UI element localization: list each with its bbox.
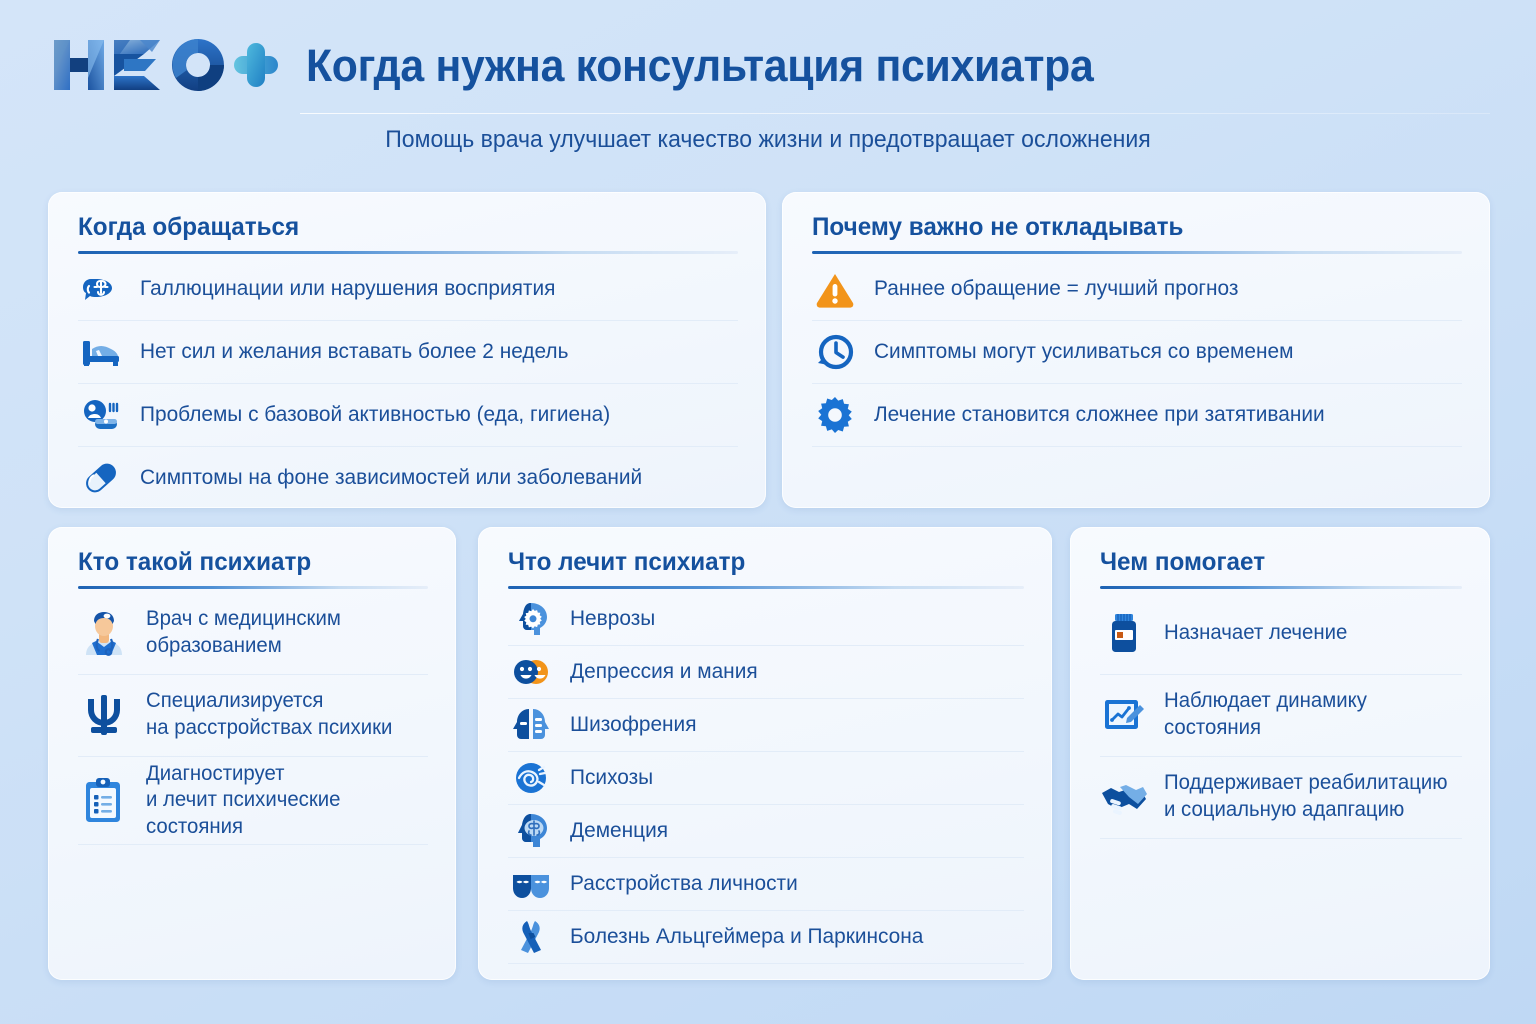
medicine-bottle-icon	[1100, 609, 1148, 657]
theater-masks-icon	[508, 861, 554, 907]
list-item[interactable]: Болезнь Альцгеймера и Паркинсона	[508, 911, 1024, 964]
list-item[interactable]: Проблемы с базовой активностью (еда, гиг…	[78, 384, 738, 447]
list-item[interactable]: Лечение становится сложнее при затятиван…	[812, 384, 1462, 447]
list-item-label: Специализируется на расстройствах психик…	[146, 688, 392, 741]
card-title: Почему важно не откладывать	[812, 214, 1443, 242]
item-list: Врач с медицинским образованием Специали…	[78, 593, 428, 846]
card-title: Кто такой психиатр	[78, 549, 418, 577]
page-subtitle: Помощь врача улучшает качество жизни и п…	[31, 126, 1506, 154]
list-item[interactable]: Шизофрения	[508, 699, 1024, 752]
page-header: Когда нужна консультация психиатра Помощ…	[0, 0, 1536, 170]
card-title: Когда обращаться	[78, 214, 718, 242]
list-item[interactable]: Депрессия и мания	[508, 646, 1024, 699]
list-item-label: Наблюдает динамику состояния	[1164, 688, 1453, 741]
warning-triangle-icon	[812, 266, 858, 312]
list-item-label: Лечение становится сложнее при затятиван…	[874, 401, 1325, 427]
list-item[interactable]: Поддерживает реабилитацию и социальную а…	[1100, 757, 1462, 839]
clock-icon	[812, 329, 858, 375]
split-head-icon	[508, 702, 554, 748]
meal-icon	[78, 392, 124, 438]
list-item-label: Раннее обращение = лучший прогноз	[874, 275, 1238, 301]
two-faces-icon	[508, 649, 554, 695]
item-list: Назначает лечение Наблюдает динамику сос…	[1100, 593, 1462, 839]
list-item-label: Галлюцинации или нарушения восприятия	[140, 275, 555, 301]
list-item-label: Психозы	[570, 764, 653, 790]
list-item-label: Шизофрения	[570, 711, 697, 737]
brand-row: Когда нужна консультация психиатра	[48, 32, 1135, 98]
neo-plus-logo-icon	[48, 32, 280, 98]
card-title-underline	[1100, 586, 1462, 589]
card-how-helps: Чем помогает Назначает лечение	[1070, 527, 1490, 980]
psi-icon	[78, 689, 130, 741]
card-what-psychiatrist-treats: Что лечит психиатр Неврозы	[478, 527, 1052, 980]
bed-icon	[78, 329, 124, 375]
card-when-to-seek-help: Когда обращаться	[48, 192, 766, 508]
head-gear-icon	[508, 596, 554, 642]
list-item-label: Симптомы на фоне зависимостей или заболе…	[140, 464, 642, 490]
card-title-underline	[508, 586, 1024, 589]
list-item[interactable]: Диагностирует и лечит психические состоя…	[78, 757, 428, 846]
list-item-label: Депрессия и мания	[570, 658, 758, 684]
tangled-head-icon	[508, 755, 554, 801]
list-item[interactable]: Специализируется на расстройствах психик…	[78, 675, 428, 757]
clipboard-icon	[78, 774, 130, 826]
list-item[interactable]: Симптомы могут усиливаться со временем	[812, 321, 1462, 384]
card-title: Чем помогает	[1100, 549, 1451, 577]
handshake-icon	[1100, 773, 1148, 821]
card-title: Что лечит психиатр	[508, 549, 1009, 577]
list-item-label: Расстройства личности	[570, 870, 798, 896]
awareness-ribbon-icon	[508, 914, 554, 960]
list-item-label: Симптомы могут усиливаться со временем	[874, 338, 1293, 364]
list-item[interactable]: Деменция	[508, 805, 1024, 858]
card-title-underline	[78, 586, 428, 589]
list-item[interactable]: Раннее обращение = лучший прогноз	[812, 258, 1462, 321]
list-item[interactable]: Назначает лечение	[1100, 593, 1462, 675]
list-item-label: Врач с медицинским образованием	[146, 606, 341, 659]
card-title-underline	[812, 251, 1462, 254]
list-item-label: Нет сил и желания вставать более 2 недел…	[140, 338, 568, 364]
list-item[interactable]: Расстройства личности	[508, 858, 1024, 911]
header-divider	[300, 113, 1490, 114]
list-item[interactable]: Нет сил и желания вставать более 2 недел…	[78, 321, 738, 384]
list-item[interactable]: Врач с медицинским образованием	[78, 593, 428, 675]
card-title-underline	[78, 251, 738, 254]
item-list: Раннее обращение = лучший прогноз Симпто…	[812, 258, 1462, 447]
head-brain-icon	[508, 808, 554, 854]
list-item-label: Неврозы	[570, 605, 655, 631]
item-list: Галлюцинации или нарушения восприятия Не…	[78, 258, 738, 509]
page-title: Когда нужна консультация психиатра	[306, 43, 1093, 88]
list-item-label: Диагностирует и лечит психические состоя…	[146, 761, 420, 841]
list-item[interactable]: Неврозы	[508, 593, 1024, 646]
list-item[interactable]: Психозы	[508, 752, 1024, 805]
list-item-label: Болезнь Альцгеймера и Паркинсона	[570, 923, 923, 949]
card-why-not-delay: Почему важно не откладывать Раннее обращ…	[782, 192, 1490, 508]
list-item-label: Проблемы с базовой активностью (еда, гиг…	[140, 401, 610, 427]
brain-icon	[78, 266, 124, 312]
list-item[interactable]: Наблюдает динамику состояния	[1100, 675, 1462, 757]
doctor-icon	[78, 607, 130, 659]
infographic-page: Когда нужна консультация психиатра Помощ…	[0, 0, 1536, 1024]
list-item[interactable]: Галлюцинации или нарушения восприятия	[78, 258, 738, 321]
list-item-label: Деменция	[570, 817, 668, 843]
list-item-label: Назначает лечение	[1164, 620, 1347, 647]
list-item-label: Поддерживает реабилитацию и социальную а…	[1164, 770, 1448, 823]
item-list: Неврозы	[508, 593, 1024, 964]
chart-board-icon	[1100, 691, 1148, 739]
capsule-icon	[78, 455, 124, 501]
card-who-is-psychiatrist: Кто такой психиатр	[48, 527, 456, 980]
list-item[interactable]: Симптомы на фоне зависимостей или заболе…	[78, 447, 738, 509]
gear-icon	[812, 392, 858, 438]
